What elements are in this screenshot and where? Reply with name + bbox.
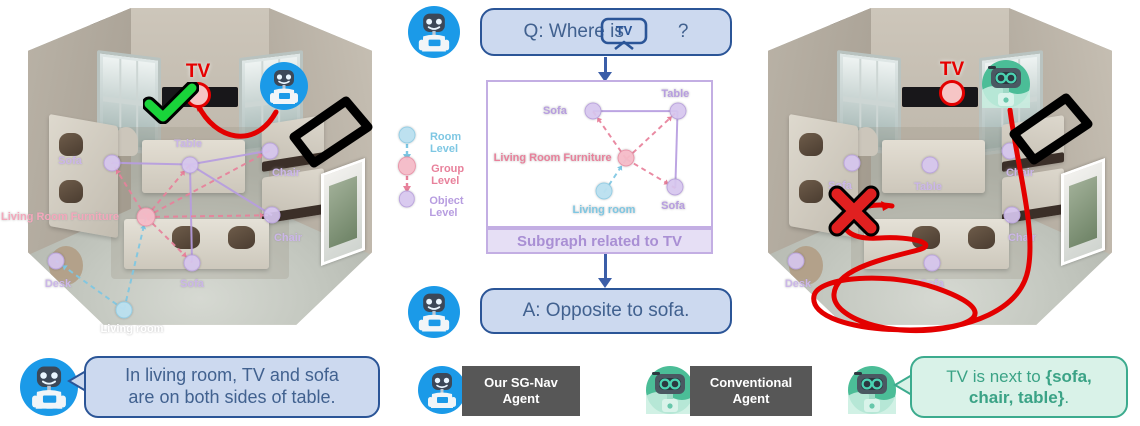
legend-label-room: Room Level — [430, 131, 492, 155]
ours-agent-avatar — [418, 366, 466, 414]
cross-mark-icon — [828, 185, 880, 237]
right-caption-bold2: chair, table} — [969, 388, 1064, 407]
camera-frustum-icon — [288, 95, 374, 171]
cushion-d — [228, 226, 256, 249]
graph-node-table — [669, 102, 686, 119]
cushion-c — [172, 226, 200, 249]
cushion-c-r — [912, 226, 940, 249]
plant-left-r — [789, 246, 823, 286]
subgraph-nodes: SofaTableSofaLiving Room FurnitureLiving… — [488, 82, 711, 226]
answer-robot-avatar — [408, 286, 460, 338]
graph-node-sofa-right — [667, 179, 684, 196]
wall-picture — [321, 158, 365, 266]
right-scene-panel: SofaTableChairChairSofaDesk TV — [740, 0, 1140, 350]
question-suffix: ? — [678, 21, 689, 43]
left-scene-panel: SofaTableChairChairSofaDeskLiving Room F… — [0, 0, 400, 350]
subgraph-panel: SofaTableSofaLiving Room FurnitureLiving… — [486, 80, 713, 228]
question-robot-avatar — [408, 6, 460, 58]
camera-frustum-icon-r — [1008, 92, 1094, 168]
footer-right-caption: TV is next to {sofa, chair, table}. — [910, 356, 1128, 418]
footer-left-caption-line1: In living room, TV and sofa — [125, 365, 339, 387]
svg-text:TV: TV — [616, 23, 633, 38]
graph-node-label-living-room: Living room — [572, 204, 635, 216]
cushion-d-r — [968, 226, 996, 249]
cushion-b — [59, 180, 83, 203]
object-level-node-icon — [399, 190, 415, 207]
coffee-table-r — [882, 140, 985, 193]
footer-right-caption-line1: TV is next to {sofa, — [946, 366, 1092, 387]
group-level-node-icon — [398, 156, 416, 175]
footer-right-robot-avatar — [848, 366, 896, 414]
graph-node-label-table: Table — [661, 88, 689, 100]
legend-item-group: Group Level — [398, 163, 492, 187]
graph-node-living-room — [595, 183, 612, 200]
legend-label-object: Object Level — [429, 195, 492, 219]
conventional-agent-tag: Conventional Agent — [690, 366, 812, 416]
footer-right-caption-line2: chair, table}. — [969, 387, 1069, 408]
graph-node-sofa-top — [584, 102, 601, 119]
graph-node-label-living-room: Living room — [101, 323, 164, 335]
subgraph-footer: Subgraph related to TV — [486, 228, 713, 254]
graph-node-label-sofa-right: Sofa — [661, 200, 685, 212]
conventional-agent-avatar — [646, 366, 694, 414]
legend-item-room: Room Level — [398, 131, 492, 155]
ours-agent-tag-line2: Agent — [503, 391, 540, 407]
tv-icon: TV — [600, 17, 648, 56]
arrow-head-2 — [598, 278, 612, 288]
footer-left-caption: In living room, TV and sofa are on both … — [84, 356, 380, 418]
legend-label-group: Group Level — [431, 163, 492, 187]
question-bubble: Q: Where is TV ? — [480, 8, 732, 56]
right-caption-bold1: {sofa, — [1045, 367, 1091, 386]
arrow-down-to-answer — [604, 254, 607, 280]
wall-picture-r — [1061, 158, 1105, 266]
check-mark-icon — [143, 82, 199, 124]
tv-label: TV — [186, 61, 210, 83]
plant-left — [49, 246, 83, 286]
graph-node-label-sofa-top: Sofa — [543, 105, 567, 117]
sofa-left-furniture — [49, 114, 118, 238]
right-caption-plain1: TV is next to — [946, 367, 1045, 386]
right-caption-plain2: . — [1064, 388, 1069, 407]
level-legend: Room Level Group Level Object Level — [396, 128, 492, 216]
cushion-a — [59, 133, 83, 156]
conventional-agent-tag-line2: Agent — [733, 391, 770, 407]
conventional-agent-tag-line1: Conventional — [710, 375, 792, 391]
subgraph-edges — [488, 82, 711, 227]
footer-left-caption-line2: are on both sides of table. — [128, 387, 335, 409]
ours-agent-tag-line1: Our SG-Nav — [484, 375, 558, 391]
room-level-node-icon — [399, 126, 416, 143]
left-room-render — [28, 8, 372, 338]
right-room-render — [768, 8, 1112, 338]
ours-agent-tag: Our SG-Nav Agent — [462, 366, 580, 416]
cushion-a-r — [799, 133, 823, 156]
tv-label-r: TV — [940, 59, 964, 81]
graph-node-label-lrf: Living Room Furniture — [494, 152, 612, 164]
graph-node-lrf — [618, 150, 635, 167]
cushion-b-r — [799, 180, 823, 203]
legend-item-object: Object Level — [398, 195, 492, 219]
coffee-table — [142, 140, 245, 193]
tv-marker-dot-r — [939, 80, 965, 106]
answer-bubble: A: Opposite to sofa. — [480, 288, 732, 334]
